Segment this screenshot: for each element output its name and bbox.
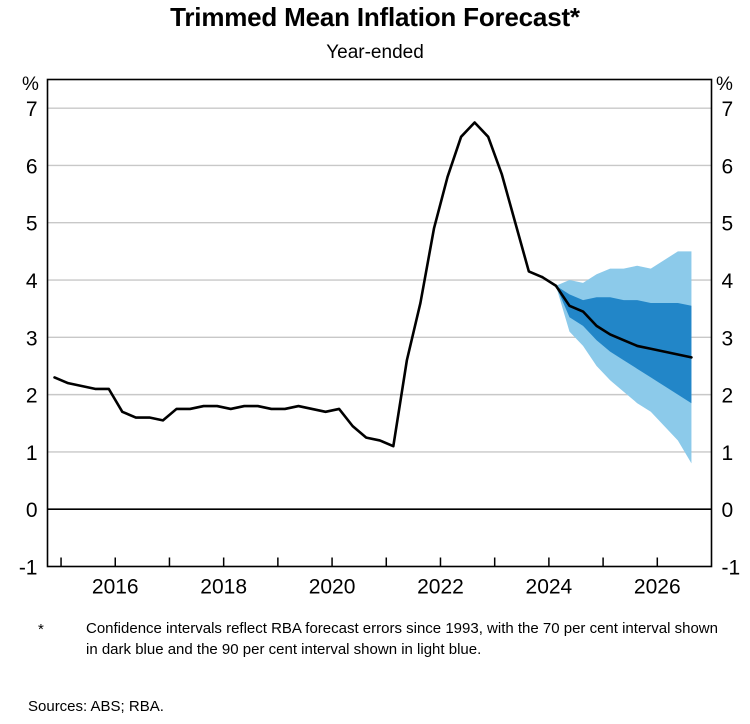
y-axis-label-right: 7 bbox=[722, 98, 734, 121]
y-axis-label-left: 2 bbox=[26, 385, 38, 408]
x-axis-label: 2024 bbox=[526, 576, 573, 599]
y-axis-label-right: 5 bbox=[722, 213, 734, 236]
y-axis-label-right: 4 bbox=[722, 270, 734, 293]
x-axis-label: 2026 bbox=[634, 576, 681, 599]
y-axis-label-right: -1 bbox=[722, 557, 741, 580]
y-axis-label-left: 6 bbox=[26, 155, 38, 178]
x-axis-label: 2020 bbox=[309, 576, 356, 599]
chart-page: Trimmed Mean Inflation Forecast* Year-en… bbox=[0, 0, 750, 724]
x-axis-label: 2022 bbox=[417, 576, 464, 599]
footnote: * Confidence intervals reflect RBA forec… bbox=[38, 618, 728, 660]
y-axis-label-left: 0 bbox=[26, 499, 38, 522]
y-axis-label-right: 0 bbox=[722, 499, 734, 522]
y-axis-label-left: 7 bbox=[26, 98, 38, 121]
chart-svg: 7766554433221100-1-120162018202020222024… bbox=[0, 0, 750, 600]
y-axis-label-left: 4 bbox=[26, 270, 38, 293]
x-axis-label: 2016 bbox=[92, 576, 139, 599]
footnote-marker: * bbox=[38, 618, 86, 640]
y-axis-label-left: -1 bbox=[19, 557, 38, 580]
y-axis-label-right: 1 bbox=[722, 442, 734, 465]
footnote-text: Confidence intervals reflect RBA forecas… bbox=[86, 618, 728, 660]
y-axis-label-left: 1 bbox=[26, 442, 38, 465]
y-axis-label-right: 6 bbox=[722, 155, 734, 178]
chart-plot-area: 7766554433221100-1-120162018202020222024… bbox=[0, 0, 750, 600]
x-axis-label: 2018 bbox=[200, 576, 247, 599]
sources-text: Sources: ABS; RBA. bbox=[28, 697, 164, 716]
y-axis-label-right: 3 bbox=[722, 327, 734, 350]
y-axis-label-left: 5 bbox=[26, 213, 38, 236]
y-axis-label-right: 2 bbox=[722, 385, 734, 408]
history-line bbox=[55, 122, 543, 446]
y-axis-label-left: 3 bbox=[26, 327, 38, 350]
